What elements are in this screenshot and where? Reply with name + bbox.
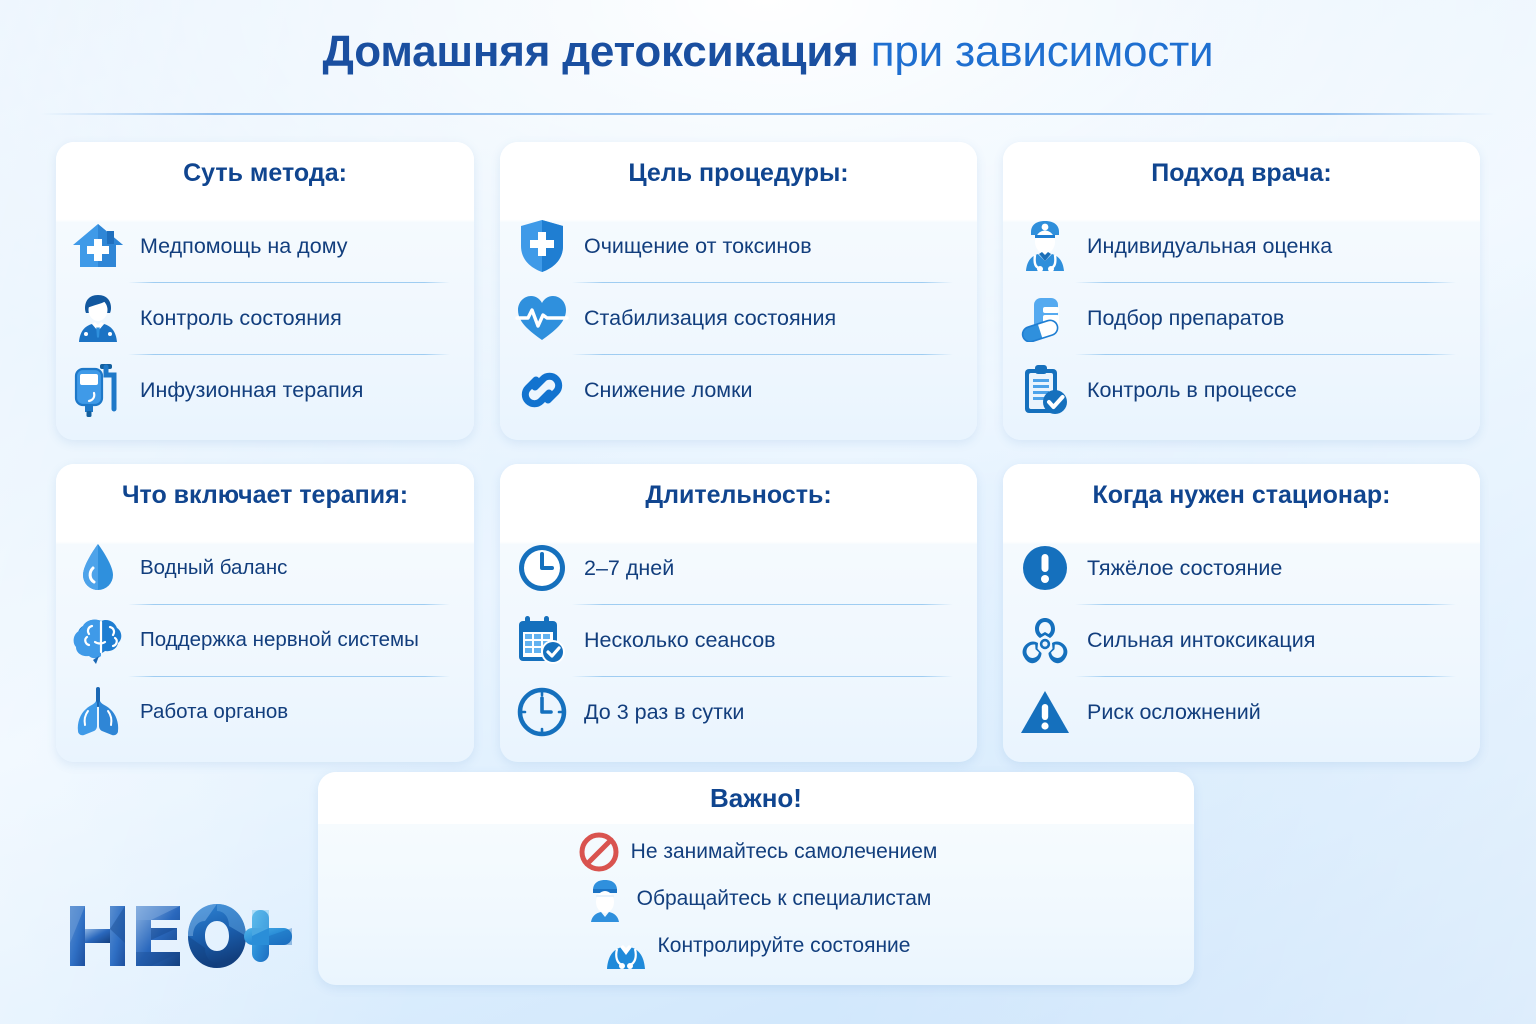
- card-title: Цель процедуры:: [628, 159, 848, 188]
- card-title: Подход врача:: [1151, 159, 1331, 188]
- doctor-head-icon: [581, 875, 629, 923]
- list-item[interactable]: Риск осложнений: [1017, 676, 1460, 748]
- house-cross-icon: [70, 218, 126, 274]
- list-item[interactable]: Стабилизация состояния: [514, 282, 957, 354]
- card-title: Длительность:: [645, 481, 831, 510]
- page-header: Домашняя детоксикация при зависимости: [0, 28, 1536, 76]
- list-item-label: Медпомощь на дому: [140, 234, 347, 259]
- card-grid: Суть метода: Медпомощь на дому: [56, 142, 1480, 762]
- list-item[interactable]: Поддержка нервной системы: [70, 604, 454, 676]
- card-title: Суть метода:: [183, 159, 347, 188]
- list-item-label: 2–7 дней: [584, 556, 674, 581]
- list-item-label: Риск осложнений: [1087, 700, 1261, 725]
- card-sut-metoda: Суть метода: Медпомощь на дому: [56, 142, 474, 440]
- doctor-person-icon: [70, 290, 126, 346]
- card-body: 2–7 дней: [500, 526, 977, 762]
- card-body: Медпомощь на дому Контроль состояния: [56, 204, 474, 440]
- list-item-label: Подбор препаратов: [1087, 306, 1284, 331]
- list-item-label: Контроль состояния: [140, 306, 342, 331]
- card-header: Когда нужен стационар:: [1003, 464, 1480, 526]
- list-item[interactable]: Индивидуальная оценка: [1017, 210, 1460, 282]
- card-chto-vklyuchaet-terapiya: Что включает терапия: Водный баланс: [56, 464, 474, 762]
- list-item[interactable]: До 3 раз в сутки: [514, 676, 957, 748]
- page-title: Домашняя детоксикация при зависимости: [0, 28, 1536, 76]
- list-item[interactable]: Инфузионная терапия: [70, 354, 454, 426]
- list-item-label: Контролируйте состояние: [658, 934, 911, 958]
- card-cel-procedury: Цель процедуры: Очищение от токсинов: [500, 142, 977, 440]
- header-divider: [40, 113, 1496, 115]
- doctor-body-icon: [602, 922, 650, 970]
- brain-icon: [70, 612, 126, 668]
- list-item-label: Тяжёлое состояние: [1087, 556, 1282, 581]
- list-item-label: До 3 раз в сутки: [584, 700, 744, 725]
- card-body: Не занимайтесь самолечением Обращайтесь …: [318, 824, 1194, 985]
- card-body: Индивидуальная оценка Подбор: [1003, 204, 1480, 440]
- exclamation-circle-icon: [1017, 540, 1073, 596]
- card-dlitelnost: Длительность: 2–7 дней: [500, 464, 977, 762]
- calendar-check-icon: [514, 612, 570, 668]
- list-item[interactable]: Снижение ломки: [514, 354, 957, 426]
- list-item-label: Инфузионная терапия: [140, 378, 363, 403]
- clipboard-check-icon: [1017, 362, 1073, 418]
- list-item[interactable]: Тяжёлое состояние: [1017, 532, 1460, 604]
- list-item[interactable]: Контроль состояния: [70, 282, 454, 354]
- card-body: Водный баланс Поддержка нервной системы: [56, 526, 474, 762]
- card-body: Тяжёлое состояние Сильная интоксикация: [1003, 526, 1480, 762]
- card-header: Подход врача:: [1003, 142, 1480, 204]
- card-title: Когда нужен стационар:: [1092, 481, 1390, 510]
- warning-triangle-icon: [1017, 684, 1073, 740]
- list-item[interactable]: Очищение от токсинов: [514, 210, 957, 282]
- list-item-label: Обращайтесь к специалистам: [637, 887, 932, 911]
- brand-logo: [66, 898, 296, 974]
- forbidden-icon: [575, 828, 623, 876]
- list-item[interactable]: Контроль в процессе: [1017, 354, 1460, 426]
- card-header: Важно!: [318, 772, 1194, 824]
- card-title: Важно!: [710, 783, 802, 814]
- list-item-label: Сильная интоксикация: [1087, 628, 1315, 653]
- iv-drip-icon: [70, 362, 126, 418]
- list-item-label: Не занимайтесь самолечением: [631, 840, 938, 864]
- list-item-label: Очищение от токсинов: [584, 234, 812, 259]
- card-podhod-vracha: Подход врача:: [1003, 142, 1480, 440]
- list-item-label: Поддержка нервной системы: [140, 628, 419, 652]
- card-header: Цель процедуры:: [500, 142, 977, 204]
- lungs-icon: [70, 684, 126, 740]
- list-item[interactable]: Не занимайтесь самолечением: [575, 828, 938, 875]
- list-item-label: Водный баланс: [140, 556, 287, 580]
- list-item-label: Стабилизация состояния: [584, 306, 836, 331]
- list-item-label: Снижение ломки: [584, 378, 753, 403]
- list-item-label: Контроль в процессе: [1087, 378, 1297, 403]
- list-item-label: Работа органов: [140, 700, 288, 724]
- list-item[interactable]: 2–7 дней: [514, 532, 957, 604]
- list-item[interactable]: Обращайтесь к специалистам: [581, 875, 932, 922]
- list-item[interactable]: Контролируйте состояние: [602, 922, 911, 969]
- list-item-label: Несколько сеансов: [584, 628, 776, 653]
- list-item[interactable]: Водный баланс: [70, 532, 454, 604]
- clock-outline-icon: [514, 684, 570, 740]
- doctor-cap-icon: [1017, 218, 1073, 274]
- card-kogda-nuzhen-stacionar: Когда нужен стационар: Тяжёлое состояние: [1003, 464, 1480, 762]
- list-item[interactable]: Подбор препаратов: [1017, 282, 1460, 354]
- chain-link-icon: [514, 362, 570, 418]
- card-vazhno: Важно! Не занимайтесь самолечением: [318, 772, 1194, 985]
- pills-bottle-icon: [1017, 290, 1073, 346]
- water-drop-icon: [70, 540, 126, 596]
- page-title-strong: Домашняя детоксикация: [323, 27, 859, 76]
- card-header: Длительность:: [500, 464, 977, 526]
- biohazard-icon: [1017, 612, 1073, 668]
- card-title: Что включает терапия:: [122, 481, 408, 510]
- list-item[interactable]: Медпомощь на дому: [70, 210, 454, 282]
- list-item-label: Индивидуальная оценка: [1087, 234, 1332, 259]
- shield-cross-icon: [514, 218, 570, 274]
- card-header: Что включает терапия:: [56, 464, 474, 526]
- list-item[interactable]: Несколько сеансов: [514, 604, 957, 676]
- list-item[interactable]: Работа органов: [70, 676, 454, 748]
- heart-pulse-icon: [514, 290, 570, 346]
- card-body: Очищение от токсинов Стабилизация состоя…: [500, 204, 977, 440]
- page-title-light: при зависимости: [859, 27, 1214, 76]
- list-item[interactable]: Сильная интоксикация: [1017, 604, 1460, 676]
- clock-icon: [514, 540, 570, 596]
- card-header: Суть метода:: [56, 142, 474, 204]
